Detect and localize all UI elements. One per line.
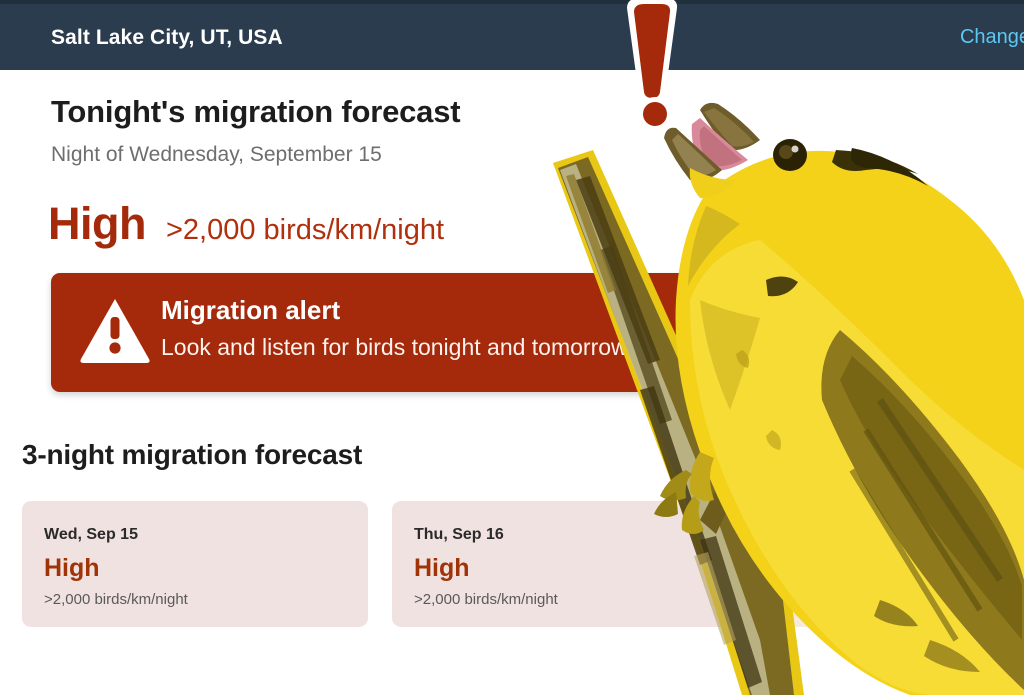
card-date: Fri, Sep 17	[784, 526, 865, 544]
card-level: High	[414, 554, 470, 583]
card-rate: >2,000 birds/km/night	[44, 591, 188, 608]
forecast-card[interactable]: Wed, Sep 15 High >2,000 birds/km/night	[22, 501, 368, 627]
card-level: Medium	[784, 554, 878, 583]
forecast-card-list: Wed, Sep 15 High >2,000 birds/km/night T…	[22, 501, 1002, 627]
card-rate: 500-2,000 birds/km/night	[784, 591, 949, 608]
warning-triangle-icon	[79, 297, 151, 363]
forecast-card[interactable]: Fri, Sep 17 Medium 500-2,000 birds/km/ni…	[762, 501, 1024, 627]
card-rate: >2,000 birds/km/night	[414, 591, 558, 608]
change-location-link[interactable]: Change	[960, 26, 1024, 49]
migration-forecast-page: Salt Lake City, UT, USA Change Tonight's…	[0, 0, 1024, 695]
alert-title: Migration alert	[161, 295, 340, 326]
app-header: Salt Lake City, UT, USA Change	[0, 4, 1024, 70]
tonight-level-row: High>2,000 birds/km/night	[48, 198, 444, 250]
tonight-level: High	[48, 198, 146, 250]
three-night-heading: 3-night migration forecast	[22, 439, 362, 471]
tonight-rate: >2,000 birds/km/night	[166, 214, 444, 247]
card-date: Thu, Sep 16	[414, 526, 504, 544]
location-title: Salt Lake City, UT, USA	[51, 26, 283, 50]
forecast-night-subtitle: Night of Wednesday, September 15	[51, 143, 382, 167]
page-title: Tonight's migration forecast	[51, 94, 460, 130]
alert-message: Look and listen for birds tonight and to…	[161, 334, 628, 361]
forecast-card[interactable]: Thu, Sep 16 High >2,000 birds/km/night	[392, 501, 738, 627]
card-level: High	[44, 554, 100, 583]
card-date: Wed, Sep 15	[44, 526, 138, 544]
migration-alert-banner[interactable]: Migration alert Look and listen for bird…	[51, 273, 973, 392]
main-content: Tonight's migration forecast Night of We…	[0, 70, 1024, 695]
